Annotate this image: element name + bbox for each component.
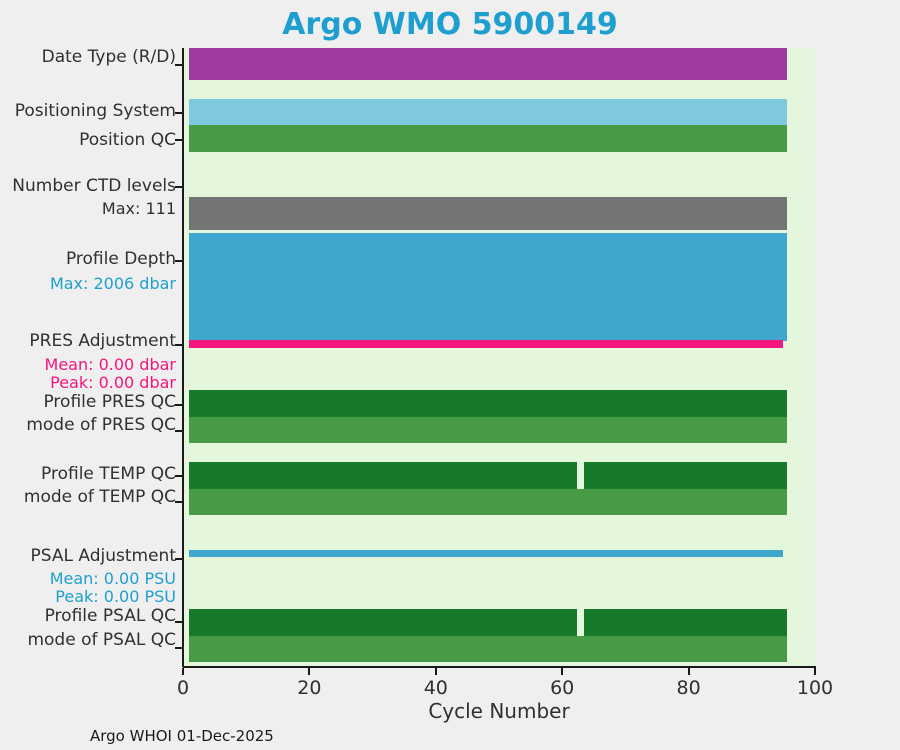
y-axis-tick — [175, 64, 182, 66]
y-axis-tick — [175, 139, 182, 141]
y-axis-tick — [175, 260, 182, 262]
row-label-mode-temp-qc: mode of TEMP QC — [24, 487, 176, 508]
row-label-profile-temp-qc: Profile TEMP QC — [41, 464, 176, 485]
bar-profile-temp-qc — [584, 462, 786, 489]
bar-profile-psal-qc — [189, 609, 577, 636]
x-axis-tick — [814, 668, 816, 675]
row-sublabel-pres-peak: Peak: 0.00 dbar — [50, 373, 176, 393]
y-axis-tick — [175, 501, 182, 503]
x-axis-tick — [688, 668, 690, 675]
x-axis-tick — [561, 668, 563, 675]
x-axis-title: Cycle Number — [183, 699, 815, 723]
bar-position-qc — [189, 125, 786, 152]
y-axis-spine — [182, 48, 184, 667]
bar-mode-of-pres-qc — [189, 417, 786, 443]
row-label-profile-depth: Profile Depth — [66, 249, 176, 270]
y-axis-tick — [175, 621, 182, 623]
bar-number-ctd-levels — [189, 197, 786, 230]
y-axis-tick — [175, 112, 182, 114]
bar-psal-adjustment — [189, 550, 783, 557]
y-axis-tick — [175, 475, 182, 477]
row-label-profile-psal-qc: Profile PSAL QC — [45, 606, 176, 627]
row-label-number-ctd-levels: Number CTD levels — [12, 176, 176, 197]
row-label-mode-pres-qc: mode of PRES QC — [26, 415, 176, 436]
row-sublabel-psal-mean: Mean: 0.00 PSU — [50, 569, 176, 589]
row-label-position-qc: Position QC — [79, 130, 176, 151]
footer-credit: Argo WHOI 01-Dec-2025 — [90, 727, 274, 745]
plot-area — [183, 48, 815, 666]
bar-date-type-r-d — [189, 48, 786, 80]
row-sublabel-pres-mean: Mean: 0.00 dbar — [45, 355, 176, 375]
x-axis-tick-label: 0 — [153, 677, 213, 699]
y-axis-tick — [175, 647, 182, 649]
row-label-psal-adjustment: PSAL Adjustment — [31, 546, 176, 567]
bar-positioning-system — [189, 99, 786, 125]
y-axis-tick — [175, 344, 182, 346]
row-label-mode-psal-qc: mode of PSAL QC — [27, 630, 176, 651]
x-axis-tick — [308, 668, 310, 675]
x-axis-tick-label: 100 — [785, 677, 845, 699]
x-axis-tick — [182, 668, 184, 675]
y-axis-tick — [175, 404, 182, 406]
x-axis-tick — [435, 668, 437, 675]
x-axis-tick-label: 40 — [406, 677, 466, 699]
row-sublabel-profile-depth-max: Max: 2006 dbar — [50, 274, 176, 294]
bar-profile-temp-qc — [189, 462, 577, 489]
row-label-positioning-system: Positioning System — [15, 101, 176, 122]
y-axis-tick — [175, 430, 182, 432]
argo-summary-figure: Argo WMO 5900149 020406080100Date Type (… — [0, 0, 900, 750]
y-axis-tick — [175, 186, 182, 188]
bar-profile-depth — [189, 233, 786, 341]
row-sublabel-number-ctd-levels-max: Max: 111 — [102, 199, 176, 219]
x-axis-tick-label: 60 — [532, 677, 592, 699]
x-axis-spine — [183, 666, 816, 668]
bar-mode-of-temp-qc — [189, 489, 786, 515]
row-label-profile-pres-qc: Profile PRES QC — [43, 392, 176, 413]
bar-pres-adjustment — [189, 340, 783, 348]
page-title: Argo WMO 5900149 — [0, 8, 900, 42]
bar-profile-psal-qc — [584, 609, 786, 636]
x-axis-tick-label: 80 — [659, 677, 719, 699]
x-axis-tick-label: 20 — [279, 677, 339, 699]
y-axis-tick — [175, 558, 182, 560]
row-sublabel-psal-peak: Peak: 0.00 PSU — [55, 587, 176, 607]
bar-mode-of-psal-qc — [189, 636, 786, 662]
row-label-pres-adjustment: PRES Adjustment — [29, 331, 176, 352]
row-label-date-type: Date Type (R/D) — [42, 47, 176, 68]
bar-profile-pres-qc — [189, 390, 786, 417]
